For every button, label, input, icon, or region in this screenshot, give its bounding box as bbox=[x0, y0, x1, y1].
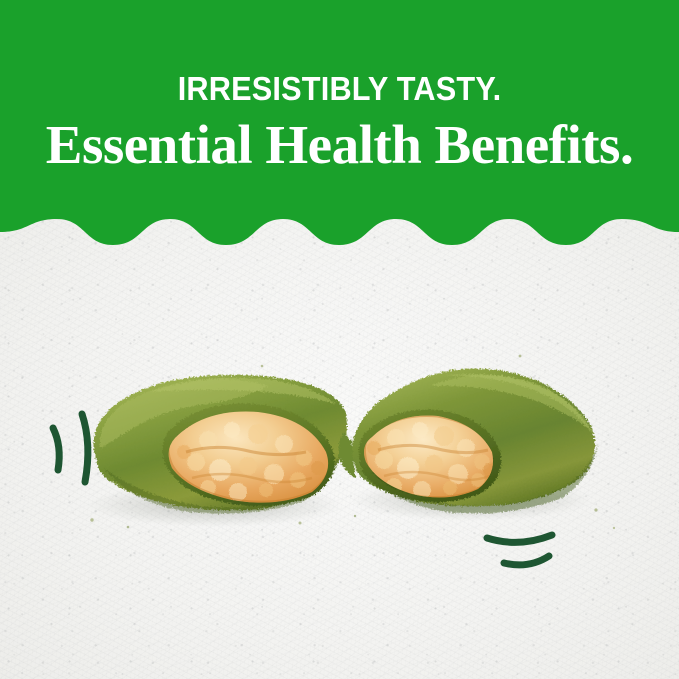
header-wave-shape bbox=[0, 0, 679, 245]
product-banner: IRRESISTIBLY TASTY. Essential Health Ben… bbox=[0, 0, 679, 679]
header-band bbox=[0, 0, 679, 248]
